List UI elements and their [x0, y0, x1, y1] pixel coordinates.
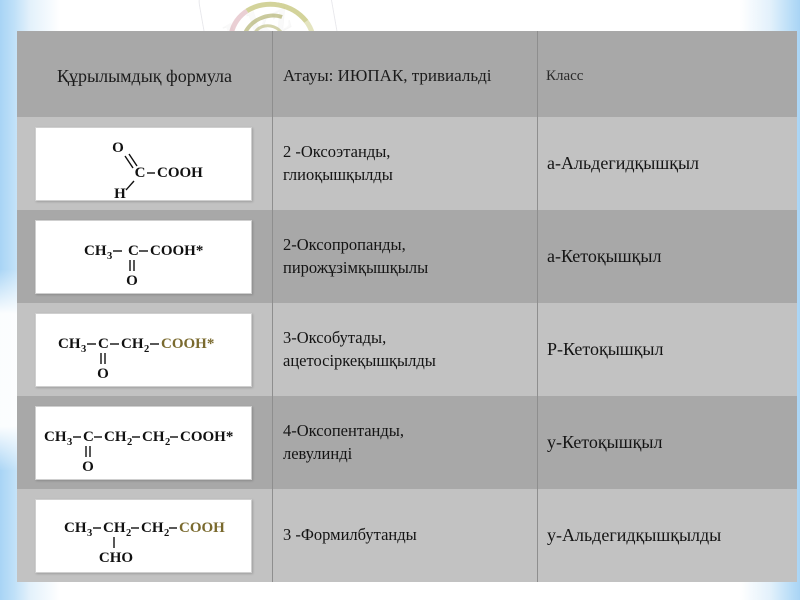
- svg-text:CH: CH: [44, 429, 67, 445]
- table-row: CH 3 CH 2 CH 2 COOH CHO: [17, 489, 797, 582]
- formula-image-3: CH 3 C CH 2 COOH* O: [35, 313, 252, 387]
- name-line-2: ацетосіркеқышқылды: [283, 350, 436, 372]
- column-header-class: Класс: [537, 31, 797, 117]
- svg-text:O: O: [82, 459, 94, 475]
- table-row: CH 3 C CH 2 CH 2 COOH* O: [17, 396, 797, 489]
- name-line-1: 2 -Оксоэтанды,: [283, 142, 390, 161]
- table-header-row: Құрылымдық формула Атауы: ИЮПАК, тривиал…: [17, 31, 797, 117]
- name-cell: 2-Оксопропанды, пирожұзімқышқылы: [272, 210, 537, 303]
- svg-text:2: 2: [127, 437, 132, 448]
- formula-cell: CH 3 C CH 2 CH 2 COOH* O: [17, 396, 272, 489]
- svg-text:CH: CH: [141, 520, 164, 536]
- svg-text:CH: CH: [103, 520, 126, 536]
- svg-text:3: 3: [81, 344, 86, 355]
- table-row: CH 3 C COOH* O 2-Оксопропанды, пирожұ: [17, 210, 797, 303]
- svg-text:C: C: [128, 243, 139, 259]
- formula-image-5: CH 3 CH 2 CH 2 COOH CHO: [35, 499, 252, 573]
- formula-image-2: CH 3 C COOH* O: [35, 220, 252, 294]
- formula-image-4: CH 3 C CH 2 CH 2 COOH* O: [35, 406, 252, 480]
- svg-text:3: 3: [67, 437, 72, 448]
- class-label: у-Альдегидқышқылды: [538, 525, 725, 546]
- svg-text:3: 3: [107, 251, 112, 262]
- name-line-1: 4-Оксопентанды,: [283, 421, 404, 440]
- name-line-1: 3-Оксобутады,: [283, 328, 386, 347]
- name-cell: 3 -Формилбутанды: [272, 489, 537, 582]
- class-cell: Р-Кетоқышқыл: [537, 303, 797, 396]
- formula-image-1: O C COOH H: [35, 127, 252, 201]
- formula-cell: O C COOH H: [17, 117, 272, 210]
- svg-text:CHO: CHO: [99, 550, 133, 566]
- class-cell: у-Кетоқышқыл: [537, 396, 797, 489]
- formula-cell: CH 3 CH 2 CH 2 COOH CHO: [17, 489, 272, 582]
- name-cell: 3-Оксобутады, ацетосіркеқышқылды: [272, 303, 537, 396]
- column-header-formula: Құрылымдық формула: [17, 31, 272, 117]
- svg-text:C: C: [135, 165, 146, 181]
- name-line-2: пирожұзімқышқылы: [283, 257, 428, 279]
- svg-text:O: O: [97, 366, 109, 382]
- class-label: Р-Кетоқышқыл: [538, 339, 667, 360]
- name-line-1: 2-Оксопропанды,: [283, 235, 406, 254]
- svg-text:CH: CH: [121, 336, 144, 352]
- class-label: у-Кетоқышқыл: [538, 432, 666, 453]
- class-label: а-Кетоқышқыл: [538, 246, 665, 267]
- svg-text:COOH*: COOH*: [180, 429, 233, 445]
- svg-text:COOH*: COOH*: [150, 243, 203, 259]
- svg-text:C: C: [83, 429, 94, 445]
- table-row: CH 3 C CH 2 COOH* O: [17, 303, 797, 396]
- svg-text:CH: CH: [84, 243, 107, 259]
- class-cell: а-Кетоқышқыл: [537, 210, 797, 303]
- column-header-class-label: Класс: [538, 64, 583, 85]
- name-line-1: 3 -Формилбутанды: [283, 525, 417, 544]
- class-label: а-Альдегидқышқыл: [538, 153, 703, 174]
- comparison-table: Құрылымдық формула Атауы: ИЮПАК, тривиал…: [17, 31, 797, 584]
- svg-text:2: 2: [144, 344, 149, 355]
- svg-text:H: H: [114, 186, 126, 200]
- svg-text:3: 3: [87, 528, 92, 539]
- svg-text:O: O: [112, 140, 124, 156]
- svg-text:O: O: [126, 273, 138, 289]
- class-cell: у-Альдегидқышқылды: [537, 489, 797, 582]
- svg-text:CH: CH: [104, 429, 127, 445]
- class-cell: а-Альдегидқышқыл: [537, 117, 797, 210]
- name-line-2: глиоқышқылды: [283, 164, 393, 186]
- slide-canvas: Stud.kz Stud.kz Stud.kz Құрылымдық форму…: [0, 0, 800, 600]
- svg-text:2: 2: [165, 437, 170, 448]
- svg-text:CH: CH: [64, 520, 87, 536]
- svg-text:CH: CH: [58, 336, 81, 352]
- column-header-name-label: Атауы: ИЮПАК, тривиальді: [273, 62, 491, 86]
- table-row: O C COOH H 2 -Оксоэтанды, глиоқышқылды: [17, 117, 797, 210]
- name-line-2: левулинді: [283, 443, 404, 465]
- svg-text:C: C: [98, 336, 109, 352]
- svg-text:CH: CH: [142, 429, 165, 445]
- svg-text:COOH: COOH: [179, 520, 225, 536]
- name-cell: 2 -Оксоэтанды, глиоқышқылды: [272, 117, 537, 210]
- column-header-formula-label: Құрылымдық формула: [57, 62, 232, 87]
- column-header-name: Атауы: ИЮПАК, тривиальді: [272, 31, 537, 117]
- name-cell: 4-Оксопентанды, левулинді: [272, 396, 537, 489]
- svg-text:COOH*: COOH*: [161, 336, 214, 352]
- formula-cell: CH 3 C COOH* O: [17, 210, 272, 303]
- svg-text:COOH: COOH: [157, 165, 203, 181]
- svg-text:2: 2: [126, 528, 131, 539]
- formula-cell: CH 3 C CH 2 COOH* O: [17, 303, 272, 396]
- svg-text:2: 2: [164, 528, 169, 539]
